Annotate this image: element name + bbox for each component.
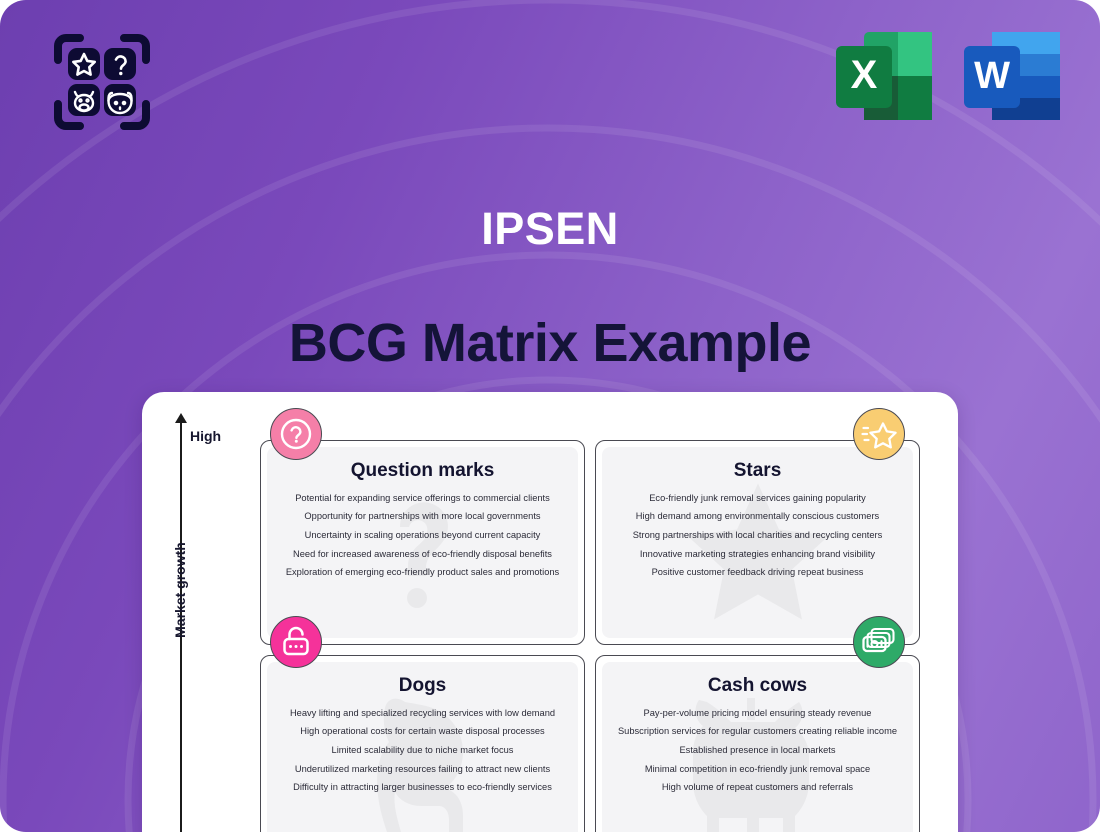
list-item: Heavy lifting and specialized recycling … <box>267 704 578 723</box>
question-mark-circle-icon <box>279 417 313 451</box>
word-icon[interactable]: W <box>960 26 1066 126</box>
quadrant-stars[interactable]: Stars Eco-friendly junk removal services… <box>595 440 920 645</box>
list-item: High volume of repeat customers and refe… <box>602 779 913 798</box>
badge-cash-cows[interactable] <box>853 616 905 668</box>
quadrant-cash-cows[interactable]: Cash cows Pay-per-volume pricing model e… <box>595 655 920 832</box>
page-title: BCG Matrix Example <box>0 314 1100 373</box>
banknotes-icon <box>861 626 897 658</box>
quadrant-title: Stars <box>734 461 782 480</box>
svg-text:W: W <box>974 55 1010 97</box>
list-item: Need for increased awareness of eco-frie… <box>267 545 578 564</box>
svg-text:X: X <box>851 53 878 97</box>
list-item: Subscription services for regular custom… <box>602 723 913 742</box>
list-item: Opportunity for partnerships with more l… <box>267 508 578 527</box>
office-icons-group: X W <box>832 26 1066 126</box>
matrix-card: High Market growth Question marks Potent… <box>142 392 958 832</box>
quadrant-item-list: Eco-friendly junk removal services gaini… <box>602 489 913 582</box>
star-icon <box>861 417 897 451</box>
list-item: Exploration of emerging eco-friendly pro… <box>267 564 578 583</box>
unlocked-padlock-icon <box>280 624 312 660</box>
quadrant-item-list: Potential for expanding service offering… <box>267 489 578 582</box>
brand-logo <box>50 30 154 134</box>
quadrant-grid: Question marks Potential for expanding s… <box>260 440 920 832</box>
badge-question-marks[interactable] <box>270 408 322 460</box>
list-item: Eco-friendly junk removal services gaini… <box>602 489 913 508</box>
quadrant-dogs[interactable]: Dogs Heavy lifting and specialized recyc… <box>260 655 585 832</box>
list-item: Limited scalability due to niche market … <box>267 741 578 760</box>
list-item: High operational costs for certain waste… <box>267 723 578 742</box>
list-item: Uncertainty in scaling operations beyond… <box>267 526 578 545</box>
list-item: Minimal competition in eco-friendly junk… <box>602 760 913 779</box>
quadrant-question-marks[interactable]: Question marks Potential for expanding s… <box>260 440 585 645</box>
axis-high-label: High <box>190 428 221 444</box>
list-item: Difficulty in attracting larger business… <box>267 779 578 798</box>
bcg-matrix-infographic: X W IPSEN BCG Matrix Example High Market… <box>0 0 1100 832</box>
quadrant-item-list: Heavy lifting and specialized recycling … <box>267 704 578 797</box>
bcg-quadrant-logo-icon <box>50 30 154 134</box>
list-item: High demand among environmentally consci… <box>602 508 913 527</box>
axis-title-label: Market growth <box>172 530 188 650</box>
badge-dogs[interactable] <box>270 616 322 668</box>
quadrant-title: Question marks <box>351 461 495 480</box>
badge-stars[interactable] <box>853 408 905 460</box>
list-item: Positive customer feedback driving repea… <box>602 564 913 583</box>
brand-name: IPSEN <box>0 206 1100 251</box>
list-item: Potential for expanding service offering… <box>267 489 578 508</box>
list-item: Underutilized marketing resources failin… <box>267 760 578 779</box>
quadrant-title: Cash cows <box>708 676 807 695</box>
list-item: Established presence in local markets <box>602 741 913 760</box>
list-item: Strong partnerships with local charities… <box>602 526 913 545</box>
quadrant-title: Dogs <box>399 676 447 695</box>
quadrant-item-list: Pay-per-volume pricing model ensuring st… <box>602 704 913 797</box>
list-item: Innovative marketing strategies enhancin… <box>602 545 913 564</box>
excel-icon[interactable]: X <box>832 26 938 126</box>
list-item: Pay-per-volume pricing model ensuring st… <box>602 704 913 723</box>
